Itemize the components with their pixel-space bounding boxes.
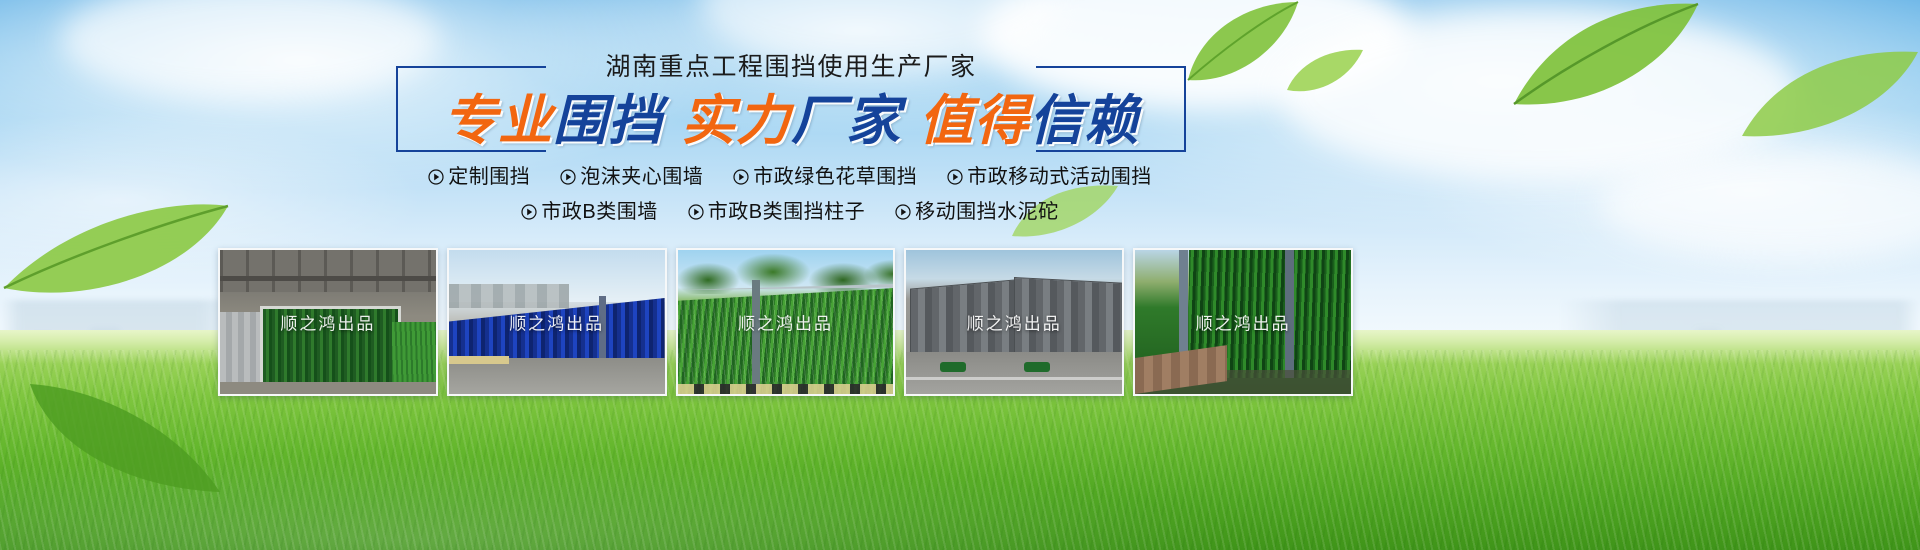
leaf-decoration-icon [1740, 46, 1920, 142]
banner-subtitle: 湖南重点工程围挡使用生产厂家 [396, 52, 1186, 82]
play-circle-icon [560, 169, 576, 185]
feature-label: 定制围挡 [448, 162, 530, 192]
play-circle-icon [521, 204, 537, 220]
photo-image [220, 250, 436, 394]
feature-item[interactable]: 市政B类围墙 [521, 197, 657, 227]
photo-image [449, 250, 665, 394]
cloud-decoration [60, 0, 440, 100]
feature-label: 市政B类围挡柱子 [708, 197, 865, 227]
feature-row-2: 市政B类围墙 市政B类围挡柱子 移动围挡水泥砣 [360, 197, 1220, 227]
feature-label: 市政移动式活动围挡 [967, 162, 1152, 192]
product-photo[interactable]: 顺之鸿出品 [676, 248, 896, 396]
headline-block: 湖南重点工程围挡使用生产厂家 专业围挡实力厂家值得信赖 [396, 52, 1186, 152]
play-circle-icon [688, 204, 704, 220]
title-segment-1: 专业 [443, 92, 553, 150]
play-circle-icon [428, 169, 444, 185]
product-photo[interactable]: 顺之鸿出品 [218, 248, 438, 396]
banner-title: 专业围挡实力厂家值得信赖 [396, 92, 1186, 150]
feature-row-1: 定制围挡 泡沫夹心围墙 市政绿色花草围挡 市政移动式活动围挡 [360, 162, 1220, 192]
feature-item[interactable]: 定制围挡 [428, 162, 530, 192]
play-circle-icon [895, 204, 911, 220]
title-segment-4: 厂家 [791, 92, 901, 150]
photo-image [678, 250, 894, 394]
product-photo[interactable]: 顺之鸿出品 [447, 248, 667, 396]
cloud-decoration [1600, 150, 1920, 260]
feature-label: 市政B类围墙 [541, 197, 657, 227]
feature-label: 移动围挡水泥砣 [915, 197, 1059, 227]
feature-list: 定制围挡 泡沫夹心围墙 市政绿色花草围挡 市政移动式活动围挡 [360, 162, 1220, 227]
feature-item[interactable]: 市政绿色花草围挡 [733, 162, 917, 192]
title-segment-2: 围挡 [553, 92, 663, 150]
play-circle-icon [733, 169, 749, 185]
feature-item[interactable]: 市政B类围挡柱子 [688, 197, 865, 227]
product-photo[interactable]: 顺之鸿出品 [904, 248, 1124, 396]
title-segment-6: 信赖 [1029, 92, 1139, 150]
play-circle-icon [947, 169, 963, 185]
feature-label: 市政绿色花草围挡 [753, 162, 917, 192]
feature-label: 泡沫夹心围墙 [580, 162, 703, 192]
cloud-decoration [1280, 10, 1800, 180]
photo-image [906, 250, 1122, 394]
product-photo-strip: 顺之鸿出品 顺之鸿出品 顺之鸿出品 顺之鸿出品 [218, 248, 1353, 396]
title-segment-3: 实力 [681, 92, 791, 150]
product-photo[interactable]: 顺之鸿出品 [1133, 248, 1353, 396]
feature-item[interactable]: 泡沫夹心围墙 [560, 162, 703, 192]
leaf-decoration-icon [1285, 46, 1365, 98]
feature-item[interactable]: 市政移动式活动围挡 [947, 162, 1152, 192]
title-segment-5: 值得 [919, 92, 1029, 150]
leaf-decoration-icon [1180, 0, 1300, 90]
leaf-decoration-icon [0, 196, 230, 306]
feature-item[interactable]: 移动围挡水泥砣 [895, 197, 1059, 227]
photo-image [1135, 250, 1351, 394]
promo-banner: 湖南重点工程围挡使用生产厂家 专业围挡实力厂家值得信赖 定制围挡 泡沫夹心围墙 [0, 0, 1920, 550]
leaf-decoration-icon [1510, 0, 1700, 110]
